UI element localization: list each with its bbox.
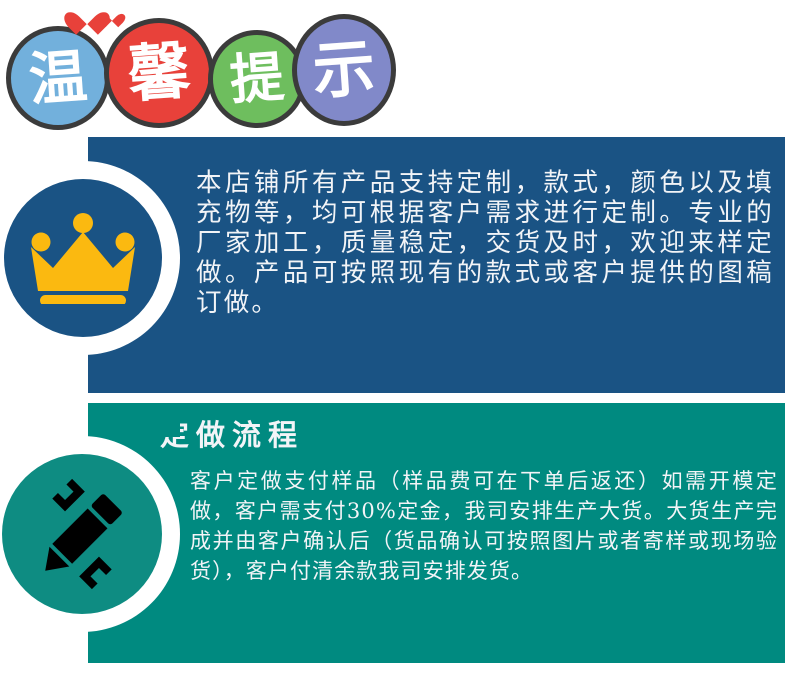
badge-char-xin: 馨 [126,40,192,106]
badge-char-wen: 温 [27,47,89,109]
badge-circle-ti: 提 [208,30,306,128]
header-badge-row: 温 馨 提 示 [0,0,400,140]
crown-medallion-disc [4,179,162,337]
blue-panel-notch-bottom [88,355,180,393]
green-panel-notch-bottom [88,625,180,663]
process-flow-title: 定做流程 [160,412,304,454]
heart-icon-small [103,8,120,24]
badge-circle-shi: 示 [292,14,396,126]
customization-info-text: 本店铺所有产品支持定制，款式，颜色以及填充物等，均可根据客户需求进行定制。专业的… [196,168,774,318]
badge-char-shi: 示 [311,37,377,103]
blue-panel-notch-top [88,137,180,163]
badge-circle-wen: 温 [6,26,110,130]
pencil-medallion-disc [2,454,162,614]
pencil-icon [24,476,140,592]
badge-char-ti: 提 [228,50,286,108]
process-flow-text: 客户定做支付样品（样品费可在下单后返还）如需开模定做，客户需支付30%定金，我司… [190,466,778,586]
crown-icon [28,212,138,304]
badge-circle-xin: 馨 [104,18,214,128]
green-panel-notch-top [88,403,180,437]
